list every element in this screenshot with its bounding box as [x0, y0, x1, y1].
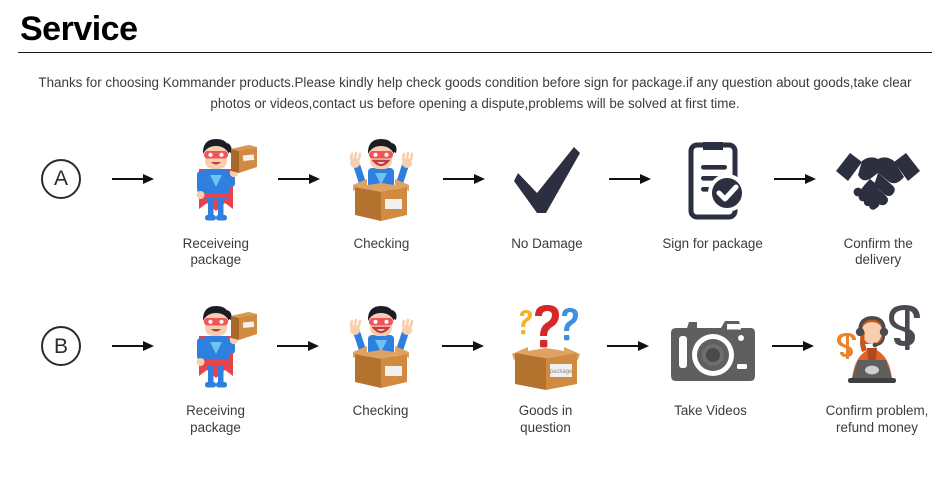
step-goods-in-question: package Goods in question [492, 298, 599, 436]
superhero-with-package-icon [173, 131, 259, 227]
row-marker-b: B [41, 326, 81, 366]
support-agent-refund-icon [822, 298, 932, 394]
superhero-in-open-box-icon [339, 298, 423, 394]
row-marker-a: A [41, 159, 81, 199]
step-checking-b: Checking [327, 298, 434, 419]
step-label: Checking [353, 403, 409, 419]
arrow-right-icon [112, 341, 154, 351]
step-take-videos: Take Videos [657, 298, 764, 419]
step-sign-for-package: Sign for package [659, 131, 767, 252]
step-label: Goods in question [492, 403, 599, 436]
step-label: Confirm the delivery [824, 236, 932, 269]
box-label-text: package [549, 369, 572, 375]
arrow-right-icon [112, 174, 154, 184]
intro-paragraph: Thanks for choosing Kommander products.P… [35, 73, 915, 115]
step-receiving-package-b: Receiving package [162, 298, 269, 436]
arrow-cell [599, 298, 657, 394]
flow-row-b: B [18, 298, 932, 436]
arrow-cell [601, 131, 659, 227]
step-label: Confirm problem, refund money [826, 403, 929, 436]
arrow-cell [434, 298, 492, 394]
superhero-in-open-box-icon [339, 131, 423, 227]
arrow-right-icon [772, 341, 814, 351]
arrow-cell [269, 298, 327, 394]
camera-icon [663, 298, 759, 394]
step-confirm-delivery: Confirm the delivery [824, 131, 932, 269]
arrow-cell [270, 131, 328, 227]
arrow-right-icon [278, 174, 320, 184]
step-label: Checking [353, 236, 409, 252]
flow-row-a: A [18, 131, 932, 269]
arrow-right-icon [607, 341, 649, 351]
step-label: No Damage [511, 236, 582, 252]
handshake-icon [830, 131, 926, 227]
checkmark-icon [506, 131, 588, 227]
step-confirm-problem-refund: Confirm problem, refund money [822, 298, 932, 436]
step-checking-a: Checking [328, 131, 436, 252]
title-divider [18, 52, 932, 53]
page-title: Service [20, 10, 932, 48]
arrow-cell [104, 131, 162, 227]
arrow-right-icon [774, 174, 816, 184]
arrow-right-icon [277, 341, 319, 351]
row-marker-cell-a: A [18, 131, 104, 227]
step-label: Take Videos [674, 403, 747, 419]
arrow-right-icon [442, 341, 484, 351]
arrow-right-icon [443, 174, 485, 184]
superhero-with-package-icon [173, 298, 259, 394]
step-label: Receiveing package [162, 236, 270, 269]
arrow-cell [104, 298, 162, 394]
step-no-damage: No Damage [493, 131, 601, 252]
step-label: Receiving package [162, 403, 269, 436]
clipboard-check-icon [675, 131, 751, 227]
step-label: Sign for package [662, 236, 763, 252]
service-infographic-page: Service Thanks for choosing Kommander pr… [0, 10, 950, 477]
arrow-cell [764, 298, 822, 394]
arrow-right-icon [609, 174, 651, 184]
question-box-icon: package [498, 298, 594, 394]
step-receiving-package-a: Receiveing package [162, 131, 270, 269]
arrow-cell [435, 131, 493, 227]
row-marker-cell-b: B [18, 298, 104, 394]
arrow-cell [766, 131, 824, 227]
